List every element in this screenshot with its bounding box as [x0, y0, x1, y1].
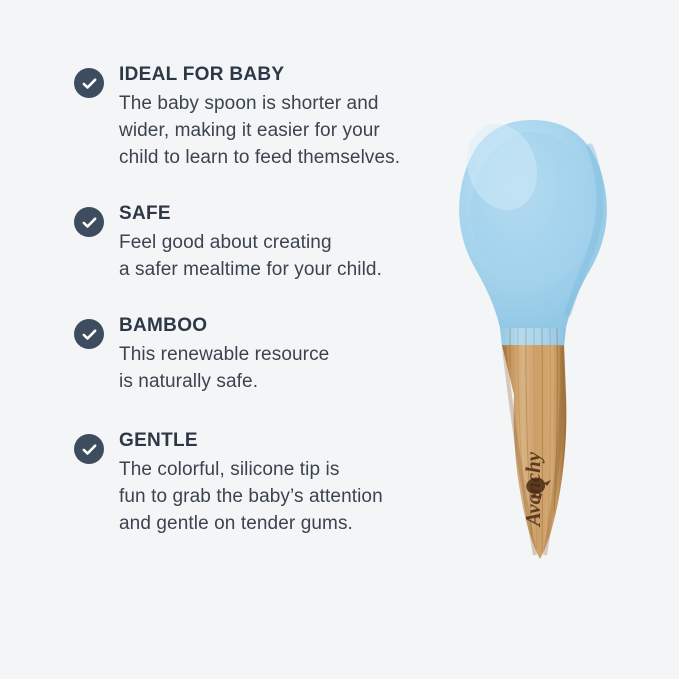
feature-body-line: Feel good about creating [119, 229, 434, 256]
check-circle-icon [74, 207, 104, 237]
feature-body-line: child to learn to feed themselves. [119, 144, 434, 171]
feature-body-line: is naturally safe. [119, 368, 434, 395]
spoon-bowl-silicone [456, 115, 607, 347]
feature-item-safe: SAFE Feel good about creating a safer me… [74, 201, 434, 283]
feature-title: BAMBOO [119, 313, 434, 338]
feature-body-line: fun to grab the baby’s attention [119, 483, 434, 510]
feature-item-bamboo: BAMBOO This renewable resource is natura… [74, 313, 434, 395]
feature-body-line: This renewable resource [119, 341, 434, 368]
feature-body-line: and gentle on tender gums. [119, 510, 434, 537]
feature-body-line: The colorful, silicone tip is [119, 456, 434, 483]
feature-body: The colorful, silicone tip is fun to gra… [119, 456, 434, 537]
feature-body: This renewable resource is naturally saf… [119, 341, 434, 395]
feature-list: IDEAL FOR BABY The baby spoon is shorter… [74, 62, 434, 537]
feature-body: Feel good about creating a safer mealtim… [119, 229, 434, 283]
check-circle-icon [74, 434, 104, 464]
feature-item-gentle: GENTLE The colorful, silicone tip is fun… [74, 428, 434, 537]
feature-body-line: The baby spoon is shorter and [119, 90, 434, 117]
check-circle-icon [74, 68, 104, 98]
feature-item-ideal-for-baby: IDEAL FOR BABY The baby spoon is shorter… [74, 62, 434, 171]
check-circle-icon [74, 319, 104, 349]
feature-body: The baby spoon is shorter and wider, mak… [119, 90, 434, 171]
feature-title: IDEAL FOR BABY [119, 62, 434, 87]
feature-title: SAFE [119, 201, 434, 226]
feature-body-line: wider, making it easier for your [119, 117, 434, 144]
feature-body-line: a safer mealtime for your child. [119, 256, 434, 283]
product-image-baby-spoon: Avanchy [440, 95, 640, 585]
product-infographic: IDEAL FOR BABY The baby spoon is shorter… [0, 0, 679, 679]
feature-title: GENTLE [119, 428, 434, 453]
